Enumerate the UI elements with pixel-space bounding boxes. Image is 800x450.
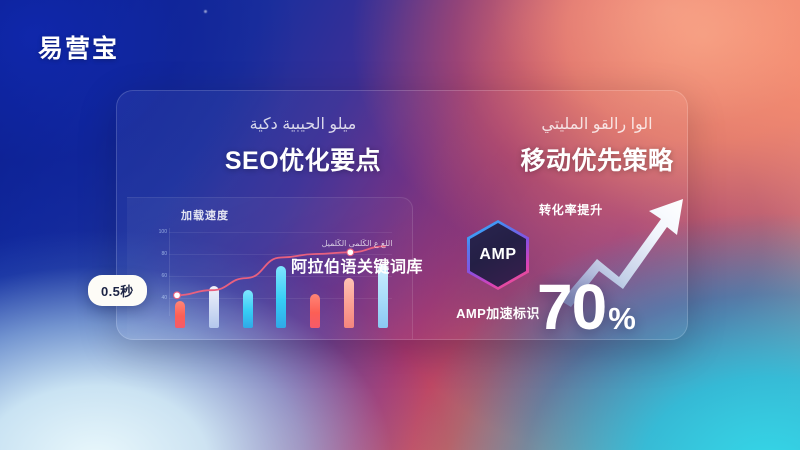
conversion-rate-value: 70 % xyxy=(537,278,636,337)
chart-title: 加载速度 xyxy=(181,207,229,223)
heading-mobile-first-chinese: 移动优先策略 xyxy=(447,141,688,177)
heading-mobile-first: الوا رالقو المليتي 移动优先策略 xyxy=(447,115,688,177)
background-sparkle-dot xyxy=(204,10,207,13)
arabic-keyword-block: اللغ ﻉ الكَلمى الكَلميل 阿拉伯语关键词库 xyxy=(277,239,437,277)
feature-card: ميلو الحيبية دكية SEO优化要点 الوا رالقو الم… xyxy=(116,90,688,340)
brand-logo: 易营宝 xyxy=(38,29,119,65)
slide-canvas: 易营宝 ميلو الحيبية دكية SEO优化要点 الوا رالقو… xyxy=(0,0,800,450)
heading-seo-chinese: SEO优化要点 xyxy=(143,141,463,177)
load-speed-badge: 0.5秒 xyxy=(88,275,147,306)
conversion-rate-percent: % xyxy=(608,301,636,337)
heading-seo-arabic: ميلو الحيبية دكية xyxy=(143,115,463,134)
heading-seo: ميلو الحيبية دكية SEO优化要点 xyxy=(143,115,463,177)
arabic-keyword-chinese: 阿拉伯语关键词库 xyxy=(277,253,437,277)
amp-hexagon-icon: AMP xyxy=(467,220,529,290)
conversion-rate-number: 70 xyxy=(537,278,606,337)
heading-mobile-first-arabic: الوا رالقو المليتي xyxy=(447,115,688,134)
arabic-keyword-arabic: اللغ ﻉ الكَلمى الكَلميل xyxy=(277,239,437,248)
conversion-rate-block: 转化率提升 70 % xyxy=(529,191,687,339)
amp-label: AMP xyxy=(467,220,529,290)
